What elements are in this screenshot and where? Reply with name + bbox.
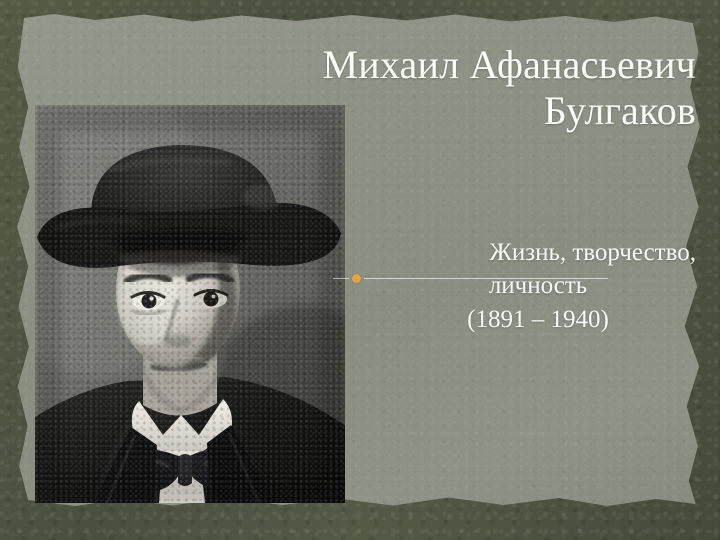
slide-title: Михаил Афанасьевич Булгаков <box>150 42 696 135</box>
presentation-slide: Михаил Афанасьевич Булгаков Жизнь, творч… <box>0 0 720 540</box>
slide-subtitle: Жизнь, творчество, личность (1891 – 1940… <box>380 236 696 336</box>
accent-dot-icon <box>352 274 361 283</box>
subtitle-line-2: личность <box>380 269 696 302</box>
divider-left-line <box>333 278 349 279</box>
portrait-photo <box>35 105 345 503</box>
subtitle-line-1: Жизнь, творчество, <box>380 236 696 269</box>
title-line-1: Михаил Афанасьевич <box>150 42 696 88</box>
title-line-2: Булгаков <box>150 88 696 134</box>
subtitle-line-3: (1891 – 1940) <box>380 303 696 336</box>
